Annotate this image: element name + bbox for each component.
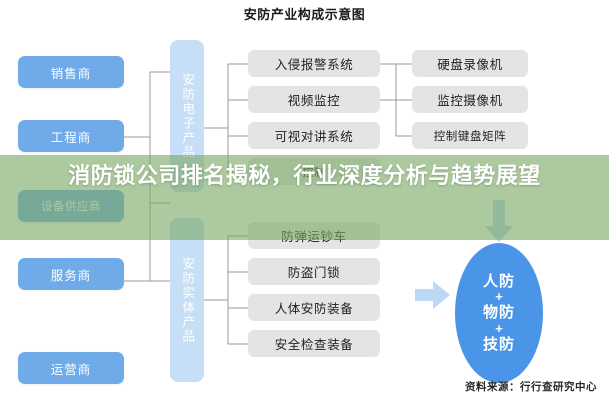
chip-physical-3[interactable]: 安全检查装备 [248,330,380,357]
category-column-physical[interactable]: 安防实体产品 [170,218,204,382]
chip-label: 入侵报警系统 [275,54,354,73]
actor-label: 销售商 [51,63,92,82]
outcome-plus-1: + [495,290,503,304]
outcome-line-2: 物防 [483,305,515,321]
right-arrow-icon [413,278,453,312]
chip-label: 控制键盘矩阵 [434,128,507,144]
actor-label: 运营商 [51,359,92,378]
outcome-line-1: 人防 [483,274,515,290]
chip-label: 人体安防装备 [275,298,354,317]
category-label: 安防实体产品 [181,257,194,344]
actor-node-3[interactable]: 服务商 [18,258,124,290]
outcome-plus-2: + [495,322,503,336]
chip-label: 防盗门锁 [288,262,340,281]
source-note: 资料来源：行行查研究中心 [465,379,597,394]
overlay-headline: 消防锁公司排名揭秘，行业深度分析与趋势展望 [0,160,609,191]
chip-device-2[interactable]: 控制键盘矩阵 [412,122,528,149]
chip-device-0[interactable]: 硬盘录像机 [412,50,528,77]
outcome-ellipse[interactable]: 人防 + 物防 + 技防 [455,243,543,383]
chip-electronics-2[interactable]: 可视对讲系统 [248,122,380,149]
chip-device-1[interactable]: 监控摄像机 [412,86,528,113]
actor-node-1[interactable]: 工程商 [18,120,124,152]
chip-electronics-1[interactable]: 视频监控 [248,86,380,113]
chip-electronics-0[interactable]: 入侵报警系统 [248,50,380,77]
actor-node-4[interactable]: 运营商 [18,352,124,384]
chip-physical-2[interactable]: 人体安防装备 [248,294,380,321]
outcome-line-3: 技防 [483,337,515,353]
chip-label: 视频监控 [288,90,340,109]
actor-node-0[interactable]: 销售商 [18,56,124,88]
chip-label: 监控摄像机 [437,90,503,109]
chip-physical-1[interactable]: 防盗门锁 [248,258,380,285]
category-label: 安防电子产品 [181,73,194,160]
actor-label: 工程商 [51,127,92,146]
actor-label: 服务商 [51,265,92,284]
chip-label: 安全检查装备 [275,334,354,353]
chip-label: 硬盘录像机 [437,54,503,73]
chip-label: 可视对讲系统 [275,126,354,145]
diagram-canvas: 安防产业构成示意图 销售商 工程商 设备供应商 服务商 [0,0,609,400]
